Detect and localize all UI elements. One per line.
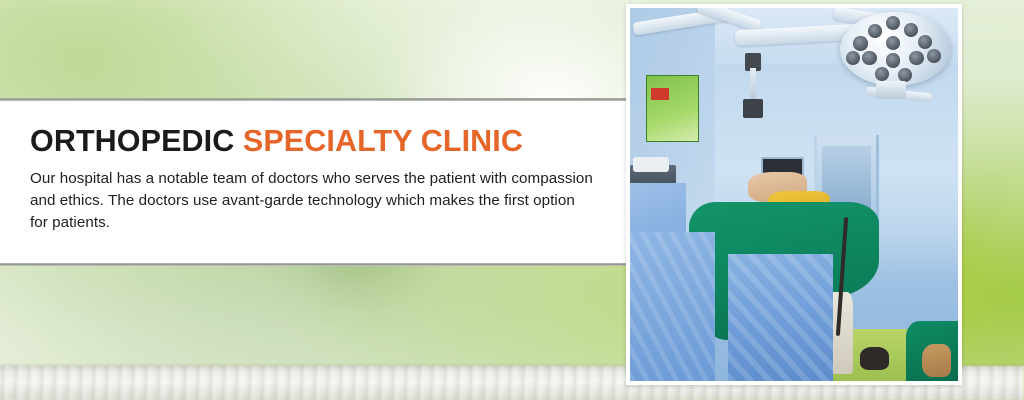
- panel-top-rule: [0, 98, 626, 101]
- body-paragraph: Our hospital has a notable team of docto…: [30, 168, 596, 235]
- surgical-light-mount: [876, 81, 906, 100]
- surgery-photo: [630, 8, 958, 381]
- instrument-tray-items: [633, 157, 669, 172]
- page-title: ORTHOPEDIC SPECIALTY CLINIC: [30, 126, 596, 157]
- panel-bottom-rule: [0, 263, 626, 266]
- headline-primary: ORTHOPEDIC: [30, 124, 234, 158]
- surgery-photo-frame: [626, 4, 962, 385]
- text-panel: ORTHOPEDIC SPECIALTY CLINIC Our hospital…: [0, 100, 626, 265]
- patient-foot: [922, 344, 952, 378]
- ceiling-arm-stem: [750, 68, 757, 102]
- orthopedic-clinic-banner: ORTHOPEDIC SPECIALTY CLINIC Our hospital…: [0, 0, 1024, 400]
- surgical-drape-blue: [728, 254, 833, 381]
- staff-footwear: [860, 347, 890, 369]
- wall-poster-label: [651, 88, 669, 100]
- headline-accent: SPECIALTY CLINIC: [243, 124, 523, 158]
- wall-poster: [646, 75, 698, 142]
- surgical-light-icon: [840, 12, 952, 87]
- surgical-drape-blue-left: [630, 232, 715, 381]
- ceiling-camera-head: [743, 99, 763, 118]
